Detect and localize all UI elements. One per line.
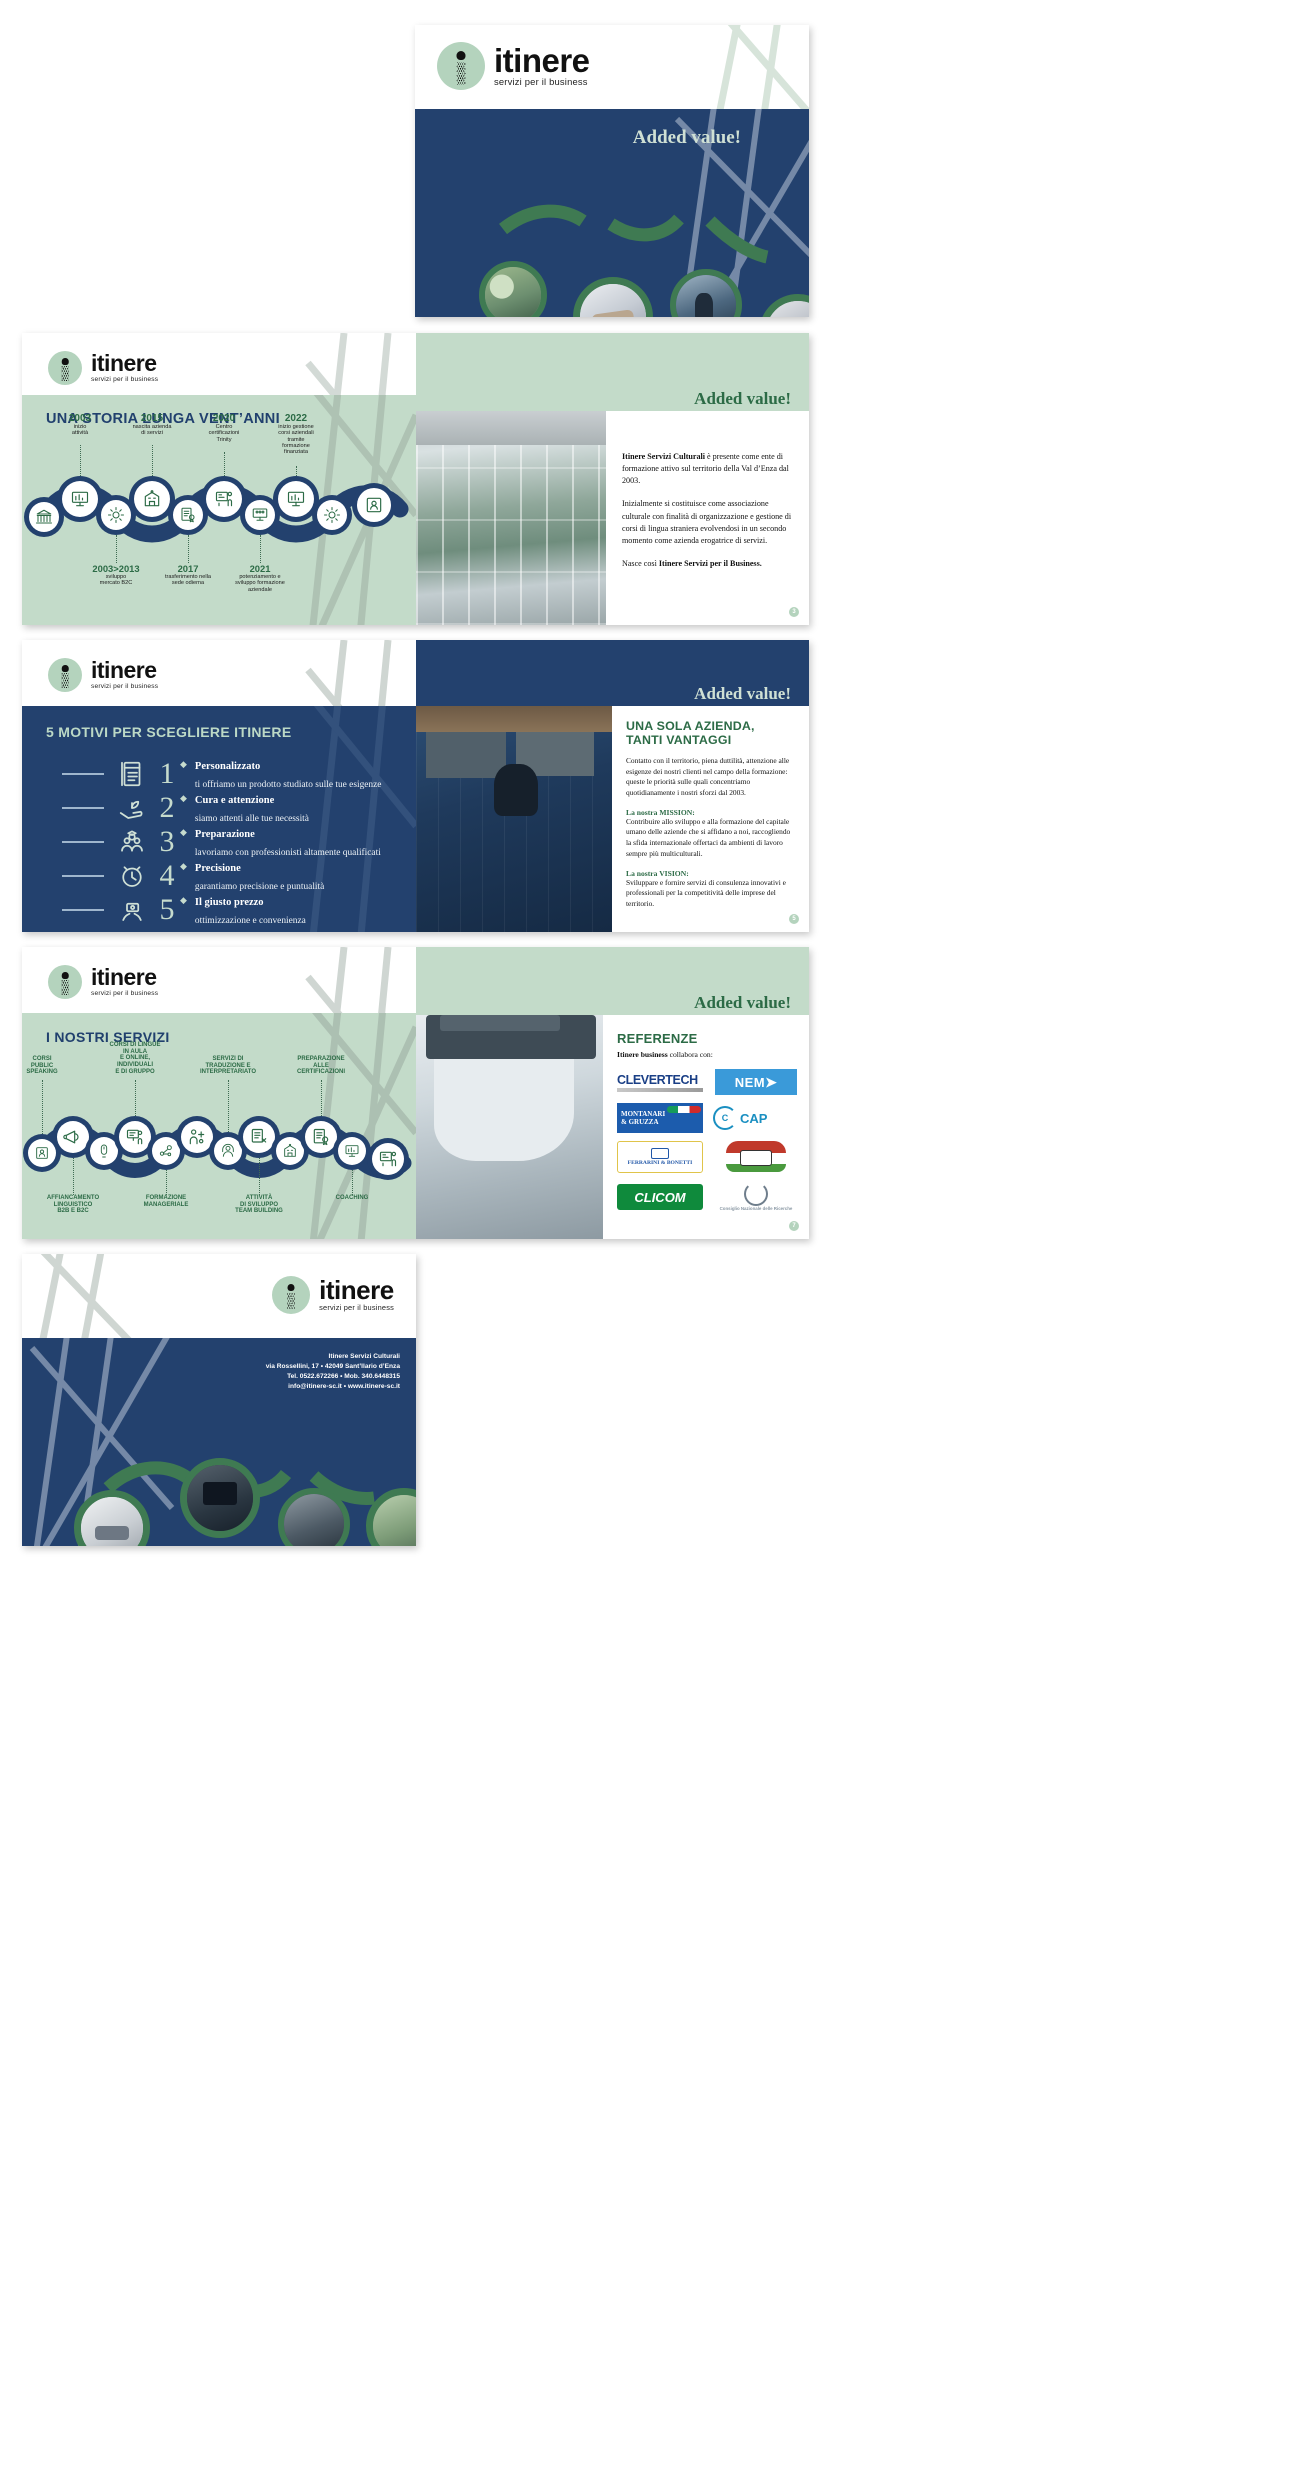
timeline-text: potenziamento esviluppo formazioneaziend… <box>210 574 310 593</box>
slide3-left: itinere servizi per il business 5 MOTIVI… <box>22 640 416 932</box>
service-dotted-connector <box>73 1158 74 1195</box>
service-label-top: CORSI DI LINGUEIN AULAE ONLINE,INDIVIDUA… <box>87 1042 183 1076</box>
presenter-icon <box>206 481 242 517</box>
reason-dash <box>62 841 104 842</box>
reason-title: Preparazione <box>195 829 255 840</box>
idcard-icon <box>28 1139 56 1167</box>
added-value-label: Added value! <box>694 389 791 409</box>
photo-circle-desk-glasses <box>74 1490 150 1546</box>
reason-star-icon: ◆ <box>180 759 187 770</box>
reason-star-icon: ◆ <box>180 861 187 872</box>
reason-desc: lavoriamo con professionisti altamente q… <box>195 848 381 858</box>
logo-i-glyph-icon <box>437 42 485 90</box>
money-hands-icon <box>114 895 150 925</box>
logo-text: itinere servizi per il business <box>319 1279 394 1312</box>
reason-text: Personalizzato ti offriamo un prodotto s… <box>195 756 382 792</box>
reason-title: Cura e attenzione <box>195 795 274 806</box>
page-number: 7 <box>789 1221 799 1231</box>
service-dotted-connector <box>228 1080 229 1132</box>
logo-badge-icon <box>272 1276 310 1314</box>
slide-2-storia: itinere servizi per il business UNA STOR… <box>22 333 809 625</box>
logo-badge-icon <box>437 42 485 90</box>
logo-i-glyph-icon <box>48 658 82 692</box>
mission-text: Contribuire allo sviluppo e alla formazi… <box>626 817 797 860</box>
reason-star-icon: ◆ <box>180 895 187 906</box>
idcard-icon <box>357 488 391 522</box>
slide3-text-block: UNA SOLA AZIENDA, TANTI VANTAGGI Contatt… <box>612 706 809 932</box>
slide-3-motivi: itinere servizi per il business 5 MOTIVI… <box>22 640 809 932</box>
reason-item: 4◆ Precisione garantiamo precisione e pu… <box>62 858 324 894</box>
slide3-right-title-line2: TANTI VANTAGGI <box>626 734 797 748</box>
reason-item: 3◆ Preparazione lavoriamo con profession… <box>62 824 381 860</box>
logo-i-glyph-icon <box>48 351 82 385</box>
timeline-label-bottom: 2021 potenziamento esviluppo formazionea… <box>210 563 310 593</box>
timeline-year: 2021 <box>210 563 310 574</box>
photo-circle-person-desk <box>670 269 742 317</box>
reason-title: Precisione <box>195 863 241 874</box>
added-value-label: Added value! <box>694 993 791 1013</box>
reason-dash <box>62 909 104 910</box>
reason-desc: ottimizzazione e convenienza <box>195 916 306 926</box>
vision-label: La nostra VISION: <box>626 869 797 878</box>
timeline-dotted-connector <box>188 535 189 563</box>
timeline-node <box>352 483 396 527</box>
chart-icon <box>338 1137 366 1165</box>
client-logo-montanari: MONTANARI& GRUZZA <box>617 1103 703 1133</box>
logo-badge-icon <box>48 351 82 385</box>
reason-number: 3 <box>154 827 180 857</box>
timeline-dotted-connector <box>80 445 81 476</box>
timeline-dotted-connector <box>260 535 261 563</box>
logo-badge-icon <box>48 658 82 692</box>
reason-item: 1◆ Personalizzato ti offriamo un prodott… <box>62 756 381 792</box>
service-dotted-connector <box>352 1170 353 1195</box>
service-node <box>367 1138 409 1180</box>
logo-tagline: servizi per il business <box>91 377 158 383</box>
reason-item: 5◆ Il giusto prezzo ottimizzazione e con… <box>62 892 306 928</box>
reason-desc: siamo attenti alle tue necessità <box>195 814 309 824</box>
slide2-timeline-panel: UNA STORIA LUNGA VENT’ANNI 2003 inizioat… <box>22 395 416 625</box>
service-label-top: SERVIZI DITRADUZIONE EINTERPRETARIATO <box>180 1056 276 1076</box>
notebook-icon <box>114 759 150 789</box>
cert-icon <box>173 500 203 530</box>
logo: itinere servizi per il business <box>48 351 158 385</box>
reason-dash <box>62 875 104 876</box>
referenze-subtitle: Itinere business collabora con: <box>617 1050 799 1059</box>
presenter-icon <box>372 1143 404 1175</box>
chart-icon <box>278 481 314 517</box>
paragraph-2: Inizialmente si costituisce come associa… <box>622 498 795 547</box>
reason-text: Preparazione lavoriamo con professionist… <box>195 824 381 860</box>
photo-circle-interior <box>180 1458 260 1538</box>
service-label-bottom: ATTIVITÀDI SVILUPPOTEAM BUILDING <box>211 1195 307 1215</box>
logo: itinere servizi per il business <box>48 658 158 692</box>
office-window-photo <box>416 411 606 625</box>
hand-plant-icon <box>114 793 150 823</box>
bank-icon <box>29 502 59 532</box>
slide4-referenze: REFERENZE Itinere business collabora con… <box>603 1015 809 1239</box>
graduates-icon <box>114 827 150 857</box>
reason-dash <box>62 773 104 774</box>
timeline-text: inizio gestionecorsi aziendalitramitefor… <box>250 424 342 455</box>
client-logo-ferrarini: FERRARINI & BONETTI <box>617 1141 703 1173</box>
timeline-dotted-connector <box>152 445 153 476</box>
slide5-header: itinere servizi per il business <box>22 1254 416 1338</box>
reason-dash <box>62 807 104 808</box>
logo-name: itinere <box>91 967 158 988</box>
service-label-top: PREPARAZIONEALLECERTIFICAZIONI <box>273 1056 369 1076</box>
slide2-left: itinere servizi per il business UNA STOR… <box>22 333 416 625</box>
service-label-bottom: FORMAZIONEMANAGERIALE <box>118 1195 214 1208</box>
logo-name: itinere <box>494 46 590 76</box>
reason-item: 2◆ Cura e attenzione siamo attenti alle … <box>62 790 309 826</box>
reason-text: Precisione garantiamo precisione e puntu… <box>195 858 324 894</box>
logo-badge-icon <box>48 965 82 999</box>
client-logo-nem: NEM➤ <box>713 1069 799 1095</box>
timeline-label-top: 2022 inizio gestionecorsi aziendalitrami… <box>250 413 342 455</box>
referenze-subtitle-rest: collabora con: <box>668 1050 713 1059</box>
logo: itinere servizi per il business <box>437 42 590 90</box>
slide3-title: 5 MOTIVI PER SCEGLIERE ITINERE <box>46 724 291 740</box>
timeline-dotted-connector <box>116 535 117 563</box>
reason-title: Personalizzato <box>195 761 260 772</box>
reason-star-icon: ◆ <box>180 827 187 838</box>
slide1-header: itinere servizi per il business <box>415 25 809 109</box>
page-number: 5 <box>789 914 799 924</box>
referenze-title: REFERENZE <box>617 1031 799 1046</box>
timeline-year: 2022 <box>250 413 342 424</box>
service-dotted-connector <box>135 1080 136 1116</box>
slide2-right: Added value! Itinere Servizi Culturali è… <box>416 333 809 625</box>
school-icon <box>134 481 170 517</box>
reason-number: 2 <box>154 793 180 823</box>
service-node <box>333 1132 371 1170</box>
logo-text: itinere servizi per il business <box>91 353 158 382</box>
logo-tagline: servizi per il business <box>319 1305 394 1312</box>
reason-text: Il giusto prezzo ottimizzazione e conven… <box>195 892 306 928</box>
chart-icon <box>62 481 98 517</box>
paragraph-1-bold: Itinere Servizi Culturali <box>622 452 705 461</box>
slide-1-cover: itinere servizi per il business Added va… <box>415 25 809 317</box>
service-dotted-connector <box>166 1170 167 1195</box>
logo: itinere servizi per il business <box>272 1276 394 1314</box>
paragraph-1: Itinere Servizi Culturali è presente com… <box>622 451 795 487</box>
logo-text: itinere servizi per il business <box>91 660 158 689</box>
logo-name: itinere <box>91 660 158 681</box>
logo-tagline: servizi per il business <box>91 684 158 690</box>
logo-text: itinere servizi per il business <box>91 967 158 996</box>
logo: itinere servizi per il business <box>48 965 158 999</box>
paragraph-3: Nasce così Itinere Servizi per il Busine… <box>622 558 795 570</box>
reason-number: 5 <box>154 895 180 925</box>
logo-name: itinere <box>319 1279 394 1303</box>
slide4-left: itinere servizi per il business I NOSTRI… <box>22 947 416 1239</box>
client-logo-clevertech: CLEVERTECH <box>617 1069 703 1095</box>
added-value-label: Added value! <box>694 684 791 704</box>
slide3-right: Added value! UNA SOLA AZIENDA, TANTI VAN… <box>416 640 809 932</box>
reason-desc: ti offriamo un prodotto studiato sulle t… <box>195 780 382 790</box>
service-dotted-connector <box>259 1158 260 1195</box>
slide5-body: Itinere Servizi Culturali via Rossellini… <box>22 1338 416 1546</box>
logo-tagline: servizi per il business <box>91 991 158 997</box>
photo-circle-office-chairs <box>278 1488 350 1546</box>
page-number: 3 <box>789 607 799 617</box>
logo-i-glyph-icon <box>48 965 82 999</box>
timeline-dotted-connector <box>296 466 297 476</box>
photo-circle-green-window <box>366 1488 416 1546</box>
paragraph-3-bold: Itinere Servizi per il Business. <box>659 559 762 568</box>
alarm-clock-icon <box>114 861 150 891</box>
mission-label: La nostra MISSION: <box>626 808 797 817</box>
service-dotted-connector <box>321 1080 322 1116</box>
logo-name: itinere <box>91 353 158 374</box>
monitor-icon <box>245 500 275 530</box>
paragraph-3-lead: Nasce così <box>622 559 659 568</box>
timeline-node <box>312 495 352 535</box>
gear-icon <box>317 500 347 530</box>
client-logos-grid: CLEVERTECH NEM➤ MONTANARI& GRUZZA C CAP … <box>617 1069 799 1213</box>
reason-star-icon: ◆ <box>180 793 187 804</box>
client-logo-cnr: Consiglio Nazionale delle Ricerche <box>713 1181 799 1213</box>
slide3-content-card: UNA SOLA AZIENDA, TANTI VANTAGGI Contatt… <box>416 706 809 932</box>
gear-icon <box>101 500 131 530</box>
reason-text: Cura e attenzione siamo attenti alle tue… <box>195 790 309 826</box>
slide3-right-title-line1: UNA SOLA AZIENDA, <box>626 720 797 734</box>
client-logo-clicom: CLICOM <box>617 1181 703 1213</box>
timeline-dotted-connector <box>224 452 225 476</box>
slide4-content-card: REFERENZE Itinere business collabora con… <box>416 1015 809 1239</box>
service-label-bottom: COACHING <box>304 1195 400 1202</box>
slide2-content-card: Itinere Servizi Culturali è presente com… <box>416 411 809 625</box>
hands-laptop-photo <box>416 1015 603 1239</box>
slide2-text-block: Itinere Servizi Culturali è presente com… <box>606 411 809 625</box>
reason-number: 1 <box>154 759 180 789</box>
logo-text: itinere servizi per il business <box>494 46 590 87</box>
slide3-intro: Contatto con il territorio, piena duttil… <box>626 756 797 799</box>
slide3-navy-panel: 5 MOTIVI PER SCEGLIERE ITINERE 1◆ Person… <box>22 706 416 932</box>
office-person-photo <box>416 706 612 932</box>
slide-5-contatti: itinere servizi per il business Itinere … <box>22 1254 416 1546</box>
service-label-bottom: AFFIANCAMENTOLINGUISTICOB2B E B2C <box>25 1195 121 1215</box>
referenze-subtitle-bold: Itinere business <box>617 1050 668 1059</box>
reason-number: 4 <box>154 861 180 891</box>
slide4-services-panel: I NOSTRI SERVIZI CORSIPUBLICSPEAKINGCORS… <box>22 1013 416 1239</box>
slide-4-servizi: itinere servizi per il business I NOSTRI… <box>22 947 809 1239</box>
slide1-body: Added value! <box>415 109 809 317</box>
vision-text: Sviluppare e fornire servizi di consulen… <box>626 878 797 910</box>
client-logo-camper <box>713 1141 799 1173</box>
client-logo-cap: C CAP <box>713 1103 799 1133</box>
logo-i-glyph-icon <box>272 1276 310 1314</box>
reason-desc: garantiamo precisione e puntualità <box>195 882 324 892</box>
logo-tagline: servizi per il business <box>494 78 590 87</box>
photo-circle-plants <box>479 261 547 317</box>
reason-title: Il giusto prezzo <box>195 897 264 908</box>
service-dotted-connector <box>42 1080 43 1134</box>
service-label-top: CORSIPUBLICSPEAKING <box>22 1056 90 1076</box>
slide4-right: Added value! REFERENZE Itinere business … <box>416 947 809 1239</box>
